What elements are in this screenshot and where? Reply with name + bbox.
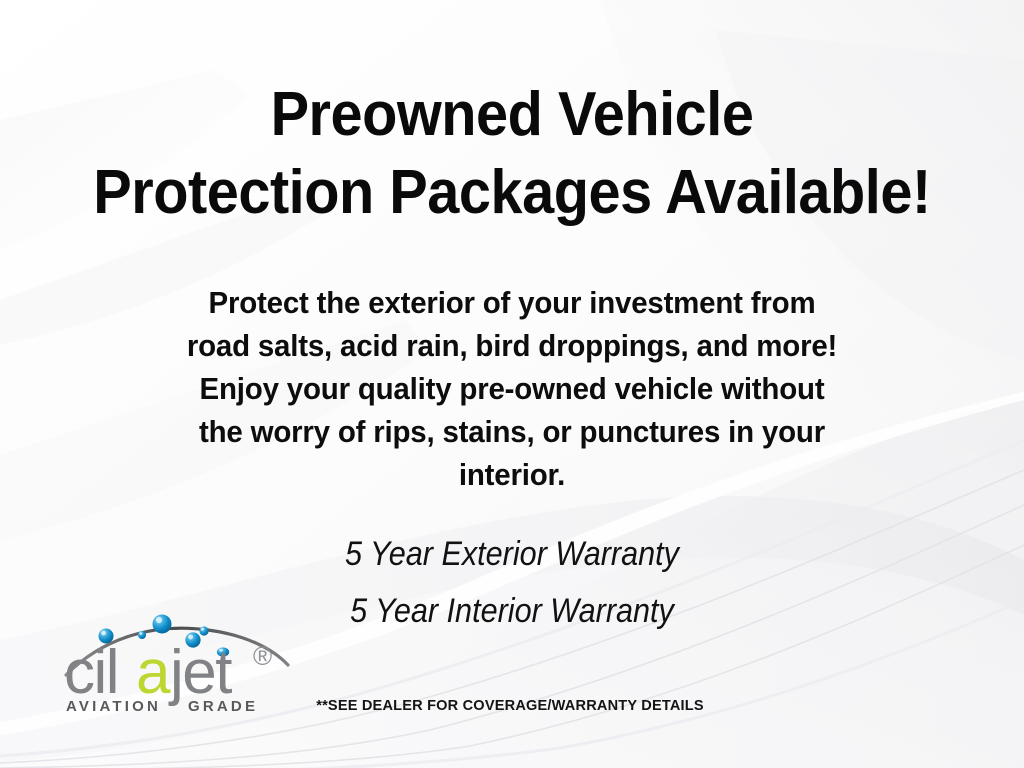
slide-canvas: Preowned Vehicle Protection Packages Ava… (0, 0, 1024, 768)
body-line-4: the worry of rips, stains, or punctures … (26, 410, 999, 453)
logo-registered-mark: ® (253, 641, 272, 671)
body-line-5: interior. (26, 453, 999, 496)
logo-wordmark-accent-a: a (136, 638, 171, 707)
logo-wordmark: cil a jet ® (64, 638, 272, 707)
bead-icon (199, 626, 208, 635)
body-line-1: Protect the exterior of your investment … (26, 281, 999, 324)
warranty-exterior-line: 5 Year Exterior Warranty (51, 532, 973, 576)
body-line-3: Enjoy your quality pre-owned vehicle wit… (26, 367, 999, 410)
logo-wordmark-jet: jet (168, 638, 232, 707)
headline-line-1: Preowned Vehicle (36, 76, 988, 154)
headline-line-2: Protection Packages Available! (36, 154, 988, 232)
bead-icon (153, 615, 172, 634)
body-line-2: road salts, acid rain, bird droppings, a… (26, 324, 999, 367)
logo-wordmark-cil: cil (64, 638, 118, 707)
logo-tagline-grade: GRADE (188, 698, 258, 713)
logo-tagline-aviation: AVIATION (66, 698, 161, 713)
cilajet-logo: cil a jet ® AVIATION GRADE (60, 583, 290, 713)
